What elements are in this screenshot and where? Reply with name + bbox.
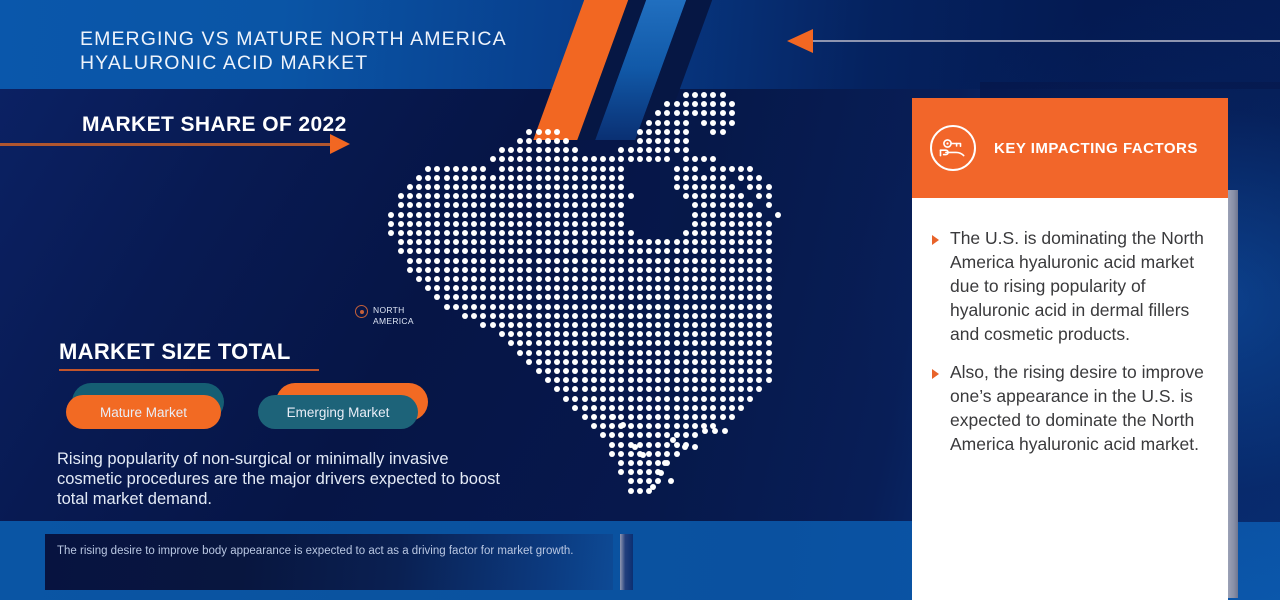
map-dot [480,313,486,319]
map-dot [646,396,652,402]
map-dot [674,101,680,107]
map-dot [738,368,744,374]
map-dot [747,267,753,273]
map-dot [655,478,661,484]
map-dot [628,377,634,383]
map-dot [462,202,468,208]
map-dot [720,110,726,116]
map-dot [710,258,716,264]
map-dot [766,202,772,208]
map-dot [674,285,680,291]
map-dot [490,156,496,162]
map-dot [710,202,716,208]
map-dot [508,184,514,190]
map-dot [462,258,468,264]
map-dot [710,166,716,172]
map-dot [517,313,523,319]
map-dot [701,239,707,245]
map-dot [499,212,505,218]
map-dot [692,359,698,365]
map-dot [508,313,514,319]
map-dot [563,276,569,282]
map-dot [609,221,615,227]
emerging-market-badge[interactable]: Emerging Market [258,395,418,429]
map-dot [637,129,643,135]
map-dot [582,359,588,365]
map-dot [710,313,716,319]
map-dot [425,212,431,218]
map-dot [582,156,588,162]
map-dot [563,166,569,172]
map-dot [646,432,652,438]
map-dot [563,359,569,365]
map-dot [628,276,634,282]
map-dot [674,322,680,328]
map-dot [444,212,450,218]
map-dot [444,166,450,172]
map-dot [738,239,744,245]
map-dot [756,267,762,273]
map-dot [683,239,689,245]
map-dot [545,276,551,282]
map-dot [646,248,652,254]
map-dot [572,184,578,190]
map-dot [536,304,542,310]
map-dot [554,156,560,162]
map-dot [591,239,597,245]
map-dot [453,239,459,245]
map-dot [664,276,670,282]
map-dot [591,294,597,300]
map-dot [545,304,551,310]
map-dot [683,294,689,300]
map-dot [517,147,523,153]
map-dot [683,129,689,135]
map-dot [738,166,744,172]
map-dot [490,230,496,236]
map-dot [683,193,689,199]
map-dot [692,239,698,245]
map-dot [766,221,772,227]
map-dot [425,285,431,291]
map-dot [545,193,551,199]
map-dot [618,414,624,420]
map-dot [600,386,606,392]
map-dot [747,184,753,190]
map-dot [499,147,505,153]
map-dot [710,331,716,337]
map-dot [609,239,615,245]
map-dot [766,184,772,190]
map-dot [655,432,661,438]
map-dot [712,428,718,434]
map-dot [582,313,588,319]
map-dot [729,331,735,337]
map-dot [628,359,634,365]
map-dot [720,202,726,208]
map-dot [710,101,716,107]
map-dot [526,138,532,144]
map-dot [545,359,551,365]
map-dot [536,331,542,337]
map-dot [536,359,542,365]
map-dot [517,221,523,227]
map-dot [766,359,772,365]
map-dot [526,359,532,365]
map-dot [536,202,542,208]
map-dot [646,331,652,337]
map-dot [398,202,404,208]
mature-market-badge[interactable]: Mature Market [66,395,221,429]
map-dot [701,331,707,337]
map-dot [747,258,753,264]
map-dot [710,396,716,402]
map-dot [480,193,486,199]
map-dot [444,193,450,199]
map-dot [701,202,707,208]
map-dot [563,147,569,153]
map-dot [563,331,569,337]
map-dot [674,386,680,392]
map-dot [600,350,606,356]
map-dot [628,368,634,374]
map-dot [683,166,689,172]
map-dot [766,313,772,319]
map-dot [526,294,532,300]
map-dot [425,258,431,264]
map-dot [591,212,597,218]
map-dot [600,396,606,402]
map-dot [572,331,578,337]
map-dot [628,294,634,300]
map-dot [434,193,440,199]
map-dot [444,267,450,273]
map-dot [398,212,404,218]
map-dot [701,386,707,392]
map-dot [668,478,674,484]
map-dot [480,166,486,172]
map-dot [526,129,532,135]
map-dot [508,340,514,346]
map-dot [682,444,688,450]
map-dot [646,386,652,392]
map-dot [480,230,486,236]
map-dot [766,304,772,310]
map-dot [747,166,753,172]
map-dot [536,147,542,153]
map-dot [674,147,680,153]
map-dot [747,202,753,208]
map-dot [471,294,477,300]
map-dot [434,212,440,218]
map-dot [545,221,551,227]
map-dot [508,294,514,300]
map-dot [692,110,698,116]
map-dot [710,212,716,218]
map-dot [600,405,606,411]
map-dot [701,184,707,190]
map-dot [747,331,753,337]
map-dot [683,432,689,438]
map-dot [545,322,551,328]
map-dot [462,184,468,190]
map-dot [655,267,661,273]
map-dot [628,414,634,420]
map-dot [683,322,689,328]
map-dot [729,359,735,365]
map-dot [729,110,735,116]
map-dot [720,212,726,218]
map-dot [720,304,726,310]
map-dot [720,313,726,319]
map-dot [600,285,606,291]
map-dot [480,184,486,190]
map-dot [545,350,551,356]
map-dot [407,258,413,264]
map-dot [683,304,689,310]
map-dot [655,304,661,310]
map-dot [499,276,505,282]
map-dot [628,331,634,337]
key-factors-card-shadow [1228,190,1238,598]
map-dot [572,322,578,328]
map-dot [664,368,670,374]
map-dot [416,193,422,199]
map-dot [738,304,744,310]
map-dot [664,239,670,245]
map-dot [490,267,496,273]
map-dot [453,193,459,199]
map-dot [738,258,744,264]
map-dot [720,340,726,346]
map-dot [526,184,532,190]
map-dot [628,285,634,291]
map-dot [637,405,643,411]
map-dot [572,193,578,199]
map-dot [407,184,413,190]
map-dot [683,138,689,144]
map-dot [756,359,762,365]
map-dot [640,452,646,458]
map-dot [526,340,532,346]
map-dot [701,377,707,383]
map-dot [536,368,542,374]
map-dot [526,350,532,356]
map-dot [738,285,744,291]
map-dot [508,230,514,236]
map-dot [618,432,624,438]
map-dot [508,304,514,310]
map-dot [490,239,496,245]
map-dot [692,414,698,420]
map-dot [618,248,624,254]
map-dot [710,322,716,328]
map-dot [720,221,726,227]
map-dot [664,414,670,420]
map-dot [582,368,588,374]
map-dot [692,230,698,236]
page-title: EMERGING VS MATURE NORTH AMERICA HYALURO… [80,27,600,75]
map-dot [738,340,744,346]
map-dot [664,359,670,365]
map-dot [499,304,505,310]
map-dot [591,202,597,208]
map-dot [453,276,459,282]
map-dot [646,239,652,245]
map-dot [701,322,707,328]
map-dot [536,156,542,162]
map-dot [545,313,551,319]
map-dot [563,304,569,310]
map-dot [471,313,477,319]
map-dot [554,202,560,208]
map-dot [434,202,440,208]
map-dot [766,331,772,337]
map-dot [729,350,735,356]
map-dot [609,368,615,374]
map-dot [747,221,753,227]
map-dot [729,396,735,402]
map-dot [618,294,624,300]
map-dot [471,276,477,282]
map-dot [729,239,735,245]
map-dot [554,350,560,356]
map-dot [664,340,670,346]
map-dot [554,166,560,172]
map-dot [526,230,532,236]
map-dot [453,175,459,181]
map-dot [655,460,661,466]
map-dot [609,175,615,181]
map-dot [766,285,772,291]
map-dot [582,184,588,190]
map-dot [729,285,735,291]
map-dot [646,313,652,319]
map-dot [674,239,680,245]
map-dot [674,340,680,346]
map-dot [664,322,670,328]
map-dot [471,230,477,236]
map-dot [591,405,597,411]
map-dot [756,368,762,374]
map-dot [490,304,496,310]
map-dot [628,478,634,484]
map-dot [655,258,661,264]
map-dot [729,322,735,328]
map-dot [536,350,542,356]
map-dot [710,239,716,245]
map-dot [710,285,716,291]
key-factors-title: KEY IMPACTING FACTORS [994,140,1198,157]
map-dot [591,156,597,162]
map-dot [729,184,735,190]
map-dot [582,212,588,218]
map-dot [609,396,615,402]
map-dot [453,267,459,273]
map-dot [738,175,744,181]
map-dot [674,405,680,411]
map-dot [692,166,698,172]
map-dot [554,193,560,199]
map-dot [628,432,634,438]
bullet-arrow-icon [932,369,939,379]
map-dot [480,239,486,245]
map-dot [720,331,726,337]
map-dot [720,184,726,190]
map-dot [683,92,689,98]
bottom-banner-text: The rising desire to improve body appear… [57,544,577,559]
map-dot [674,294,680,300]
map-dot [729,193,735,199]
map-dot [517,350,523,356]
map-dot [600,212,606,218]
map-dot [453,304,459,310]
map-dot [462,313,468,319]
map-dot [655,331,661,337]
map-dot [664,248,670,254]
map-dot [720,350,726,356]
map-dot [618,285,624,291]
map-dot [766,258,772,264]
map-dot [434,175,440,181]
map-dot [407,267,413,273]
map-dot [637,359,643,365]
map-dot [517,258,523,264]
map-dot [775,212,781,218]
map-dot [646,304,652,310]
key-factors-header: KEY IMPACTING FACTORS [912,98,1228,198]
map-dot [637,304,643,310]
map-dot [490,212,496,218]
map-dot [655,377,661,383]
map-dot [637,432,643,438]
map-dot [407,248,413,254]
map-dot [628,304,634,310]
map-dot [554,267,560,273]
map-dot [572,156,578,162]
map-dot [683,285,689,291]
map-dot [674,304,680,310]
map-dot [766,267,772,273]
map-dot [536,294,542,300]
map-dot [655,396,661,402]
map-dot [692,396,698,402]
map-dot [536,322,542,328]
map-dot [499,248,505,254]
map-dot [499,294,505,300]
map-dot [692,304,698,310]
map-dot [591,193,597,199]
map-dot [517,304,523,310]
map-dot [398,193,404,199]
map-dot [563,248,569,254]
map-dot [444,230,450,236]
map-dot [618,212,624,218]
map-dot [462,285,468,291]
map-dot [628,488,634,494]
map-dot [591,322,597,328]
map-dot [683,386,689,392]
map-dot [490,285,496,291]
map-dot [637,276,643,282]
map-dot [710,120,716,126]
map-dot [747,359,753,365]
map-dot [517,193,523,199]
map-dot [526,202,532,208]
map-dot [609,212,615,218]
map-dot [425,202,431,208]
map-dot [545,377,551,383]
